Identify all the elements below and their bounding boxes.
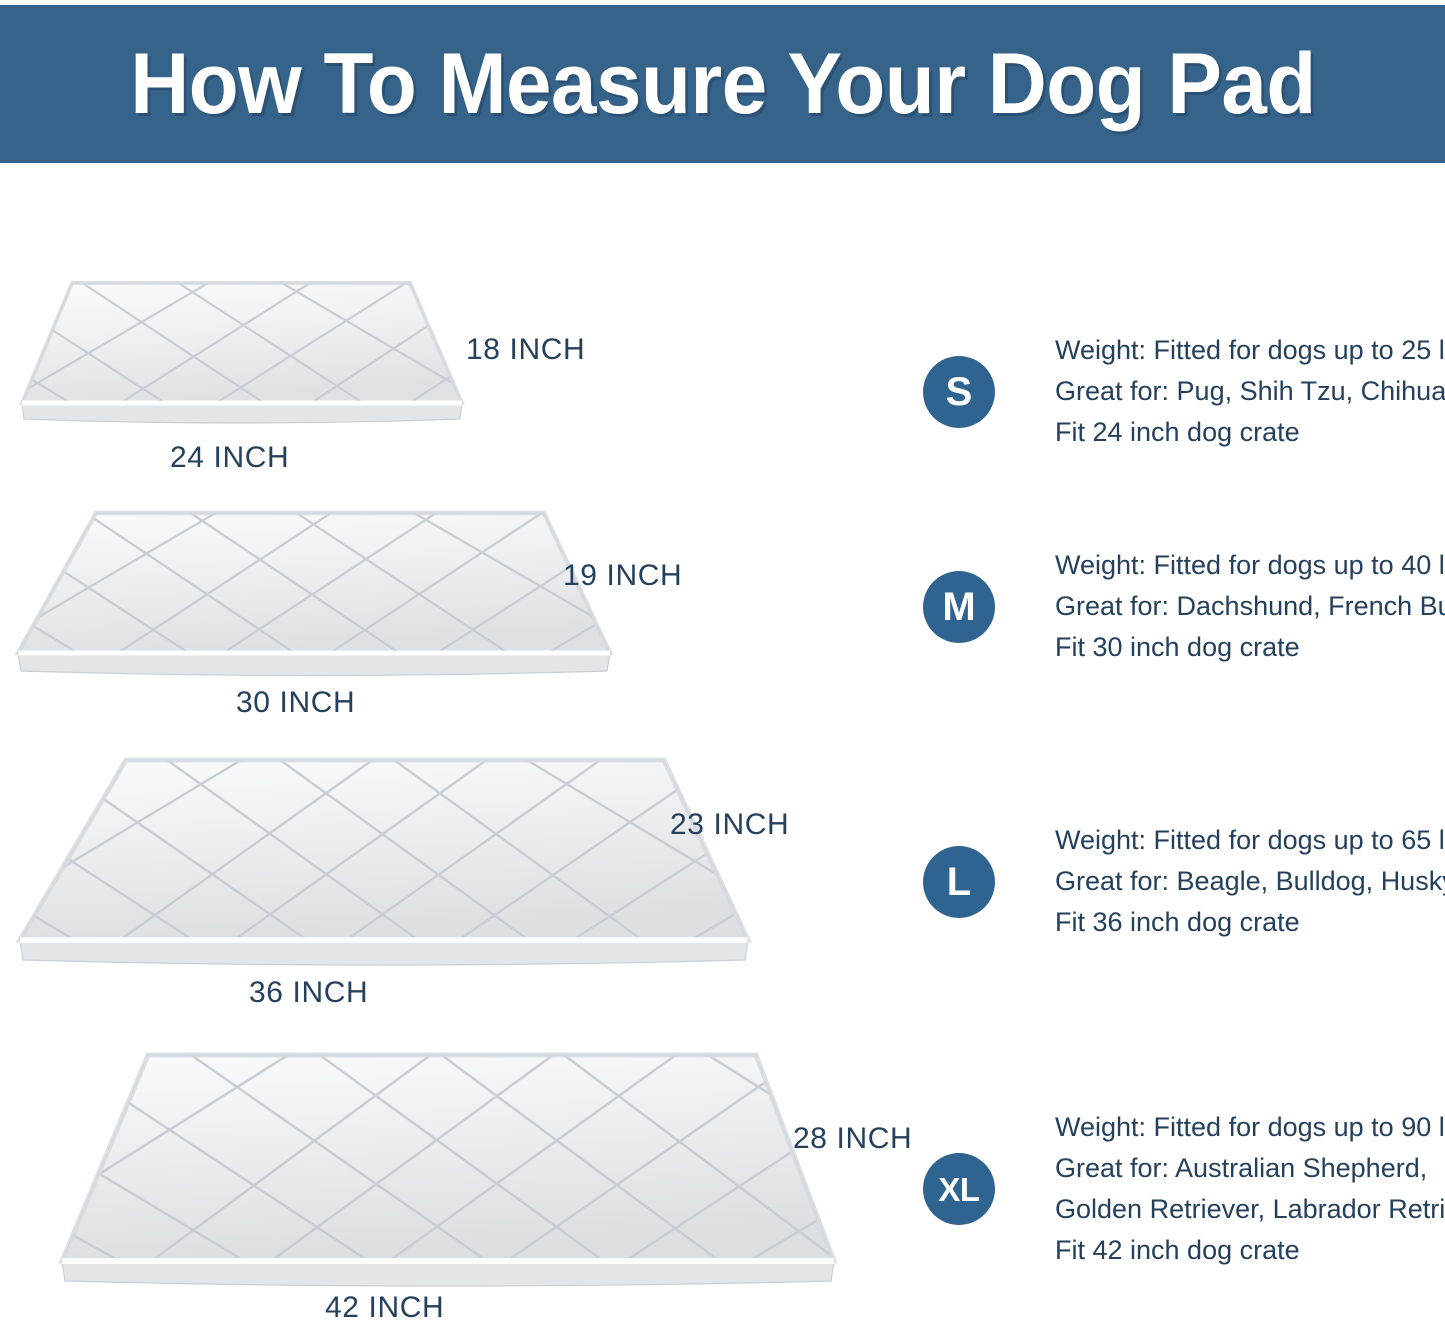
size-description-m: Weight: Fitted for dogs up to 40 lbs Gre… (1055, 545, 1445, 668)
size-line-crate-xl: Fit 42 inch dog crate (1055, 1230, 1445, 1271)
size-row-l: L Weight: Fitted for dogs up to 65 lbs G… (923, 820, 1445, 943)
pad-illustration-m (4, 505, 624, 685)
size-line-crate-l: Fit 36 inch dog crate (1055, 902, 1445, 943)
pad-svg-s (10, 275, 470, 435)
size-line-crate-s: Fit 24 inch dog crate (1055, 412, 1445, 453)
size-badge-l: L (923, 846, 995, 918)
pad-svg-xl (48, 1043, 948, 1293)
pad-illustration-s (10, 275, 470, 435)
size-line-weight-xl: Weight: Fitted for dogs up to 90 lbs (1055, 1107, 1445, 1148)
size-row-s: S Weight: Fitted for dogs up to 25 lbs G… (923, 330, 1445, 453)
size-description-l: Weight: Fitted for dogs up to 65 lbs Gre… (1055, 820, 1445, 943)
size-row-m: M Weight: Fitted for dogs up to 40 lbs G… (923, 545, 1445, 668)
pad-depth-label-s: 18 INCH (466, 333, 585, 367)
pad-depth-label-xl: 28 INCH (793, 1122, 912, 1156)
pad-depth-label-m: 19 INCH (563, 559, 682, 593)
pad-width-label-s: 24 INCH (170, 441, 289, 475)
size-row-xl: XL Weight: Fitted for dogs up to 90 lbs … (923, 1107, 1445, 1271)
pad-width-label-xl: 42 INCH (325, 1291, 444, 1323)
pad-depth-label-l: 23 INCH (670, 808, 789, 842)
size-badge-m: M (923, 571, 995, 643)
size-line-breeds-xl-2: Golden Retriever, Labrador Retriever (1055, 1189, 1445, 1230)
pad-width-label-l: 36 INCH (249, 976, 368, 1010)
pad-width-label-m: 30 INCH (236, 686, 355, 720)
infographic-page: How To Measure Your Dog Pad (0, 0, 1445, 1323)
page-title: How To Measure Your Dog Pad (130, 41, 1316, 127)
pad-svg-m (4, 505, 624, 685)
size-line-breeds-s: Great for: Pug, Shih Tzu, Chihuahua (1055, 371, 1445, 412)
size-badge-s: S (923, 356, 995, 428)
size-line-weight-l: Weight: Fitted for dogs up to 65 lbs (1055, 820, 1445, 861)
pad-svg-l (4, 752, 764, 977)
size-line-weight-m: Weight: Fitted for dogs up to 40 lbs (1055, 545, 1445, 586)
size-line-breeds-l: Great for: Beagle, Bulldog, Husky (1055, 861, 1445, 902)
size-line-breeds-m: Great for: Dachshund, French Bulldog (1055, 586, 1445, 627)
size-description-xl: Weight: Fitted for dogs up to 90 lbs Gre… (1055, 1107, 1445, 1271)
header-banner: How To Measure Your Dog Pad (0, 5, 1445, 163)
size-description-s: Weight: Fitted for dogs up to 25 lbs Gre… (1055, 330, 1445, 453)
pad-illustration-xl (48, 1043, 948, 1293)
pad-illustration-l (4, 752, 764, 977)
size-badge-xl: XL (923, 1153, 995, 1225)
size-line-breeds-xl-1: Great for: Australian Shepherd, (1055, 1148, 1445, 1189)
size-line-crate-m: Fit 30 inch dog crate (1055, 627, 1445, 668)
size-line-weight-s: Weight: Fitted for dogs up to 25 lbs (1055, 330, 1445, 371)
